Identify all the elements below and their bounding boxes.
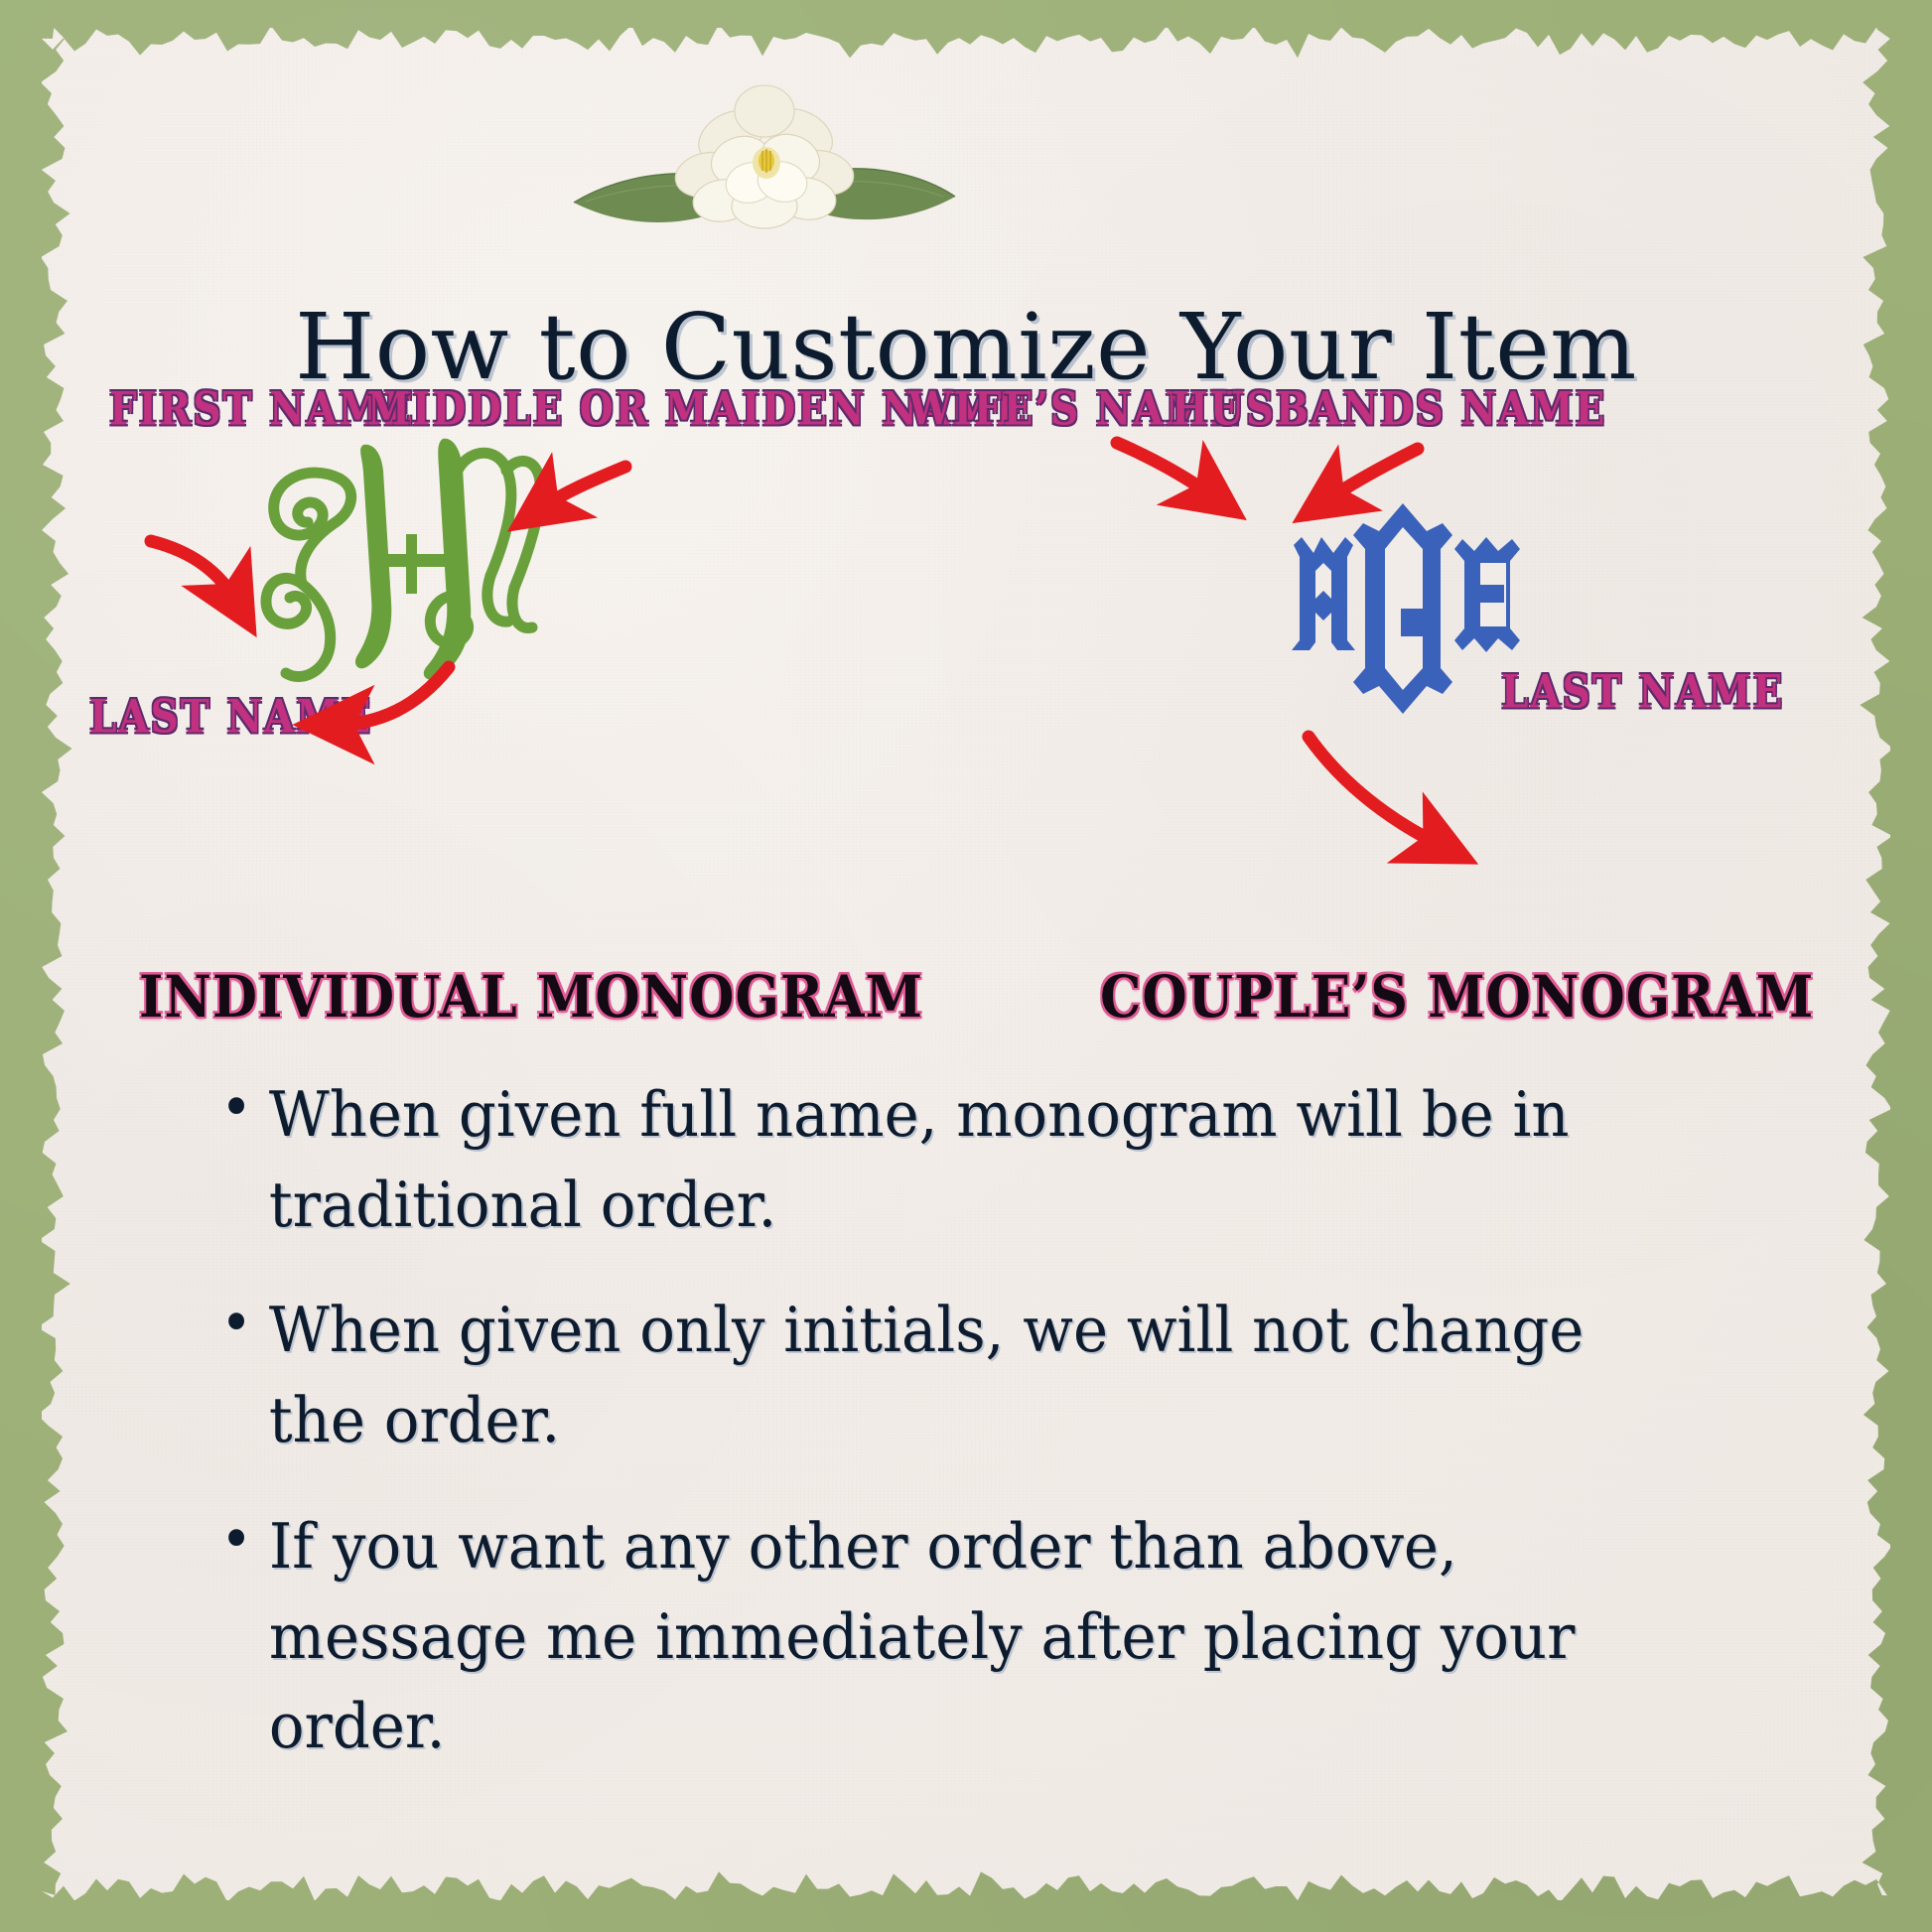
- couple-monogram-art: [1276, 501, 1534, 715]
- list-item: If you want any other order than above, …: [220, 1502, 1601, 1772]
- magnolia-flower-icon: [556, 52, 973, 265]
- instructions-list: When given full name, monogram will be i…: [220, 1070, 1690, 1808]
- heading-individual-monogram: INDIVIDUAL MONOGRAM: [139, 963, 923, 1031]
- individual-monogram-art: [246, 427, 544, 695]
- list-item: When given full name, monogram will be i…: [220, 1070, 1601, 1250]
- label-couple-last-name: LAST NAME: [1501, 665, 1784, 719]
- heading-couples-monogram: COUPLE’S MONOGRAM: [1100, 963, 1814, 1031]
- label-husbands-name: HUSBANDS NAME: [1172, 382, 1606, 436]
- list-item: When given only initials, we will not ch…: [220, 1286, 1601, 1465]
- label-individual-last-name: LAST NAME: [89, 690, 372, 744]
